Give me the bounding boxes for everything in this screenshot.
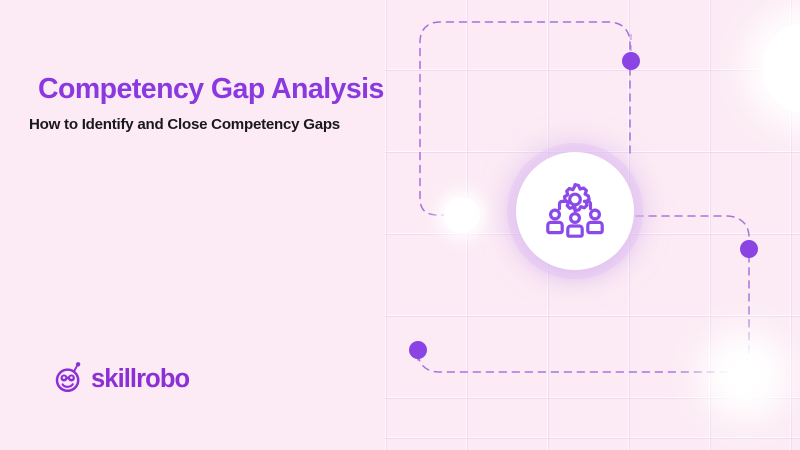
person-right-body xyxy=(588,222,602,232)
person-right-head xyxy=(591,210,600,219)
connector-left xyxy=(560,201,566,208)
brand-logo[interactable]: skillrobo xyxy=(54,361,189,398)
slide-canvas: gear above three people connected by bra… xyxy=(0,0,800,450)
person-center-head xyxy=(571,214,580,223)
glow-bottom-right xyxy=(714,344,776,406)
node-top-right xyxy=(622,52,640,70)
center-badge: gear above three people connected by bra… xyxy=(516,152,634,270)
node-bottom-left xyxy=(409,341,427,359)
gear-outline xyxy=(565,185,590,211)
brand-wordmark: skillrobo xyxy=(91,367,189,393)
title-block: Competency Gap Analysis How to Identify … xyxy=(38,74,398,134)
skillrobo-robot-mark xyxy=(54,361,84,398)
page-subtitle: How to Identify and Close Competency Gap… xyxy=(29,116,398,134)
person-left-head xyxy=(551,210,560,219)
node-right xyxy=(740,240,758,258)
person-center-body xyxy=(568,226,582,236)
glow-left-of-badge xyxy=(444,197,480,233)
gear-center xyxy=(570,194,581,205)
page-title: Competency Gap Analysis xyxy=(38,74,398,106)
team-gear-org-icon xyxy=(542,181,608,241)
person-left-body xyxy=(548,222,562,232)
